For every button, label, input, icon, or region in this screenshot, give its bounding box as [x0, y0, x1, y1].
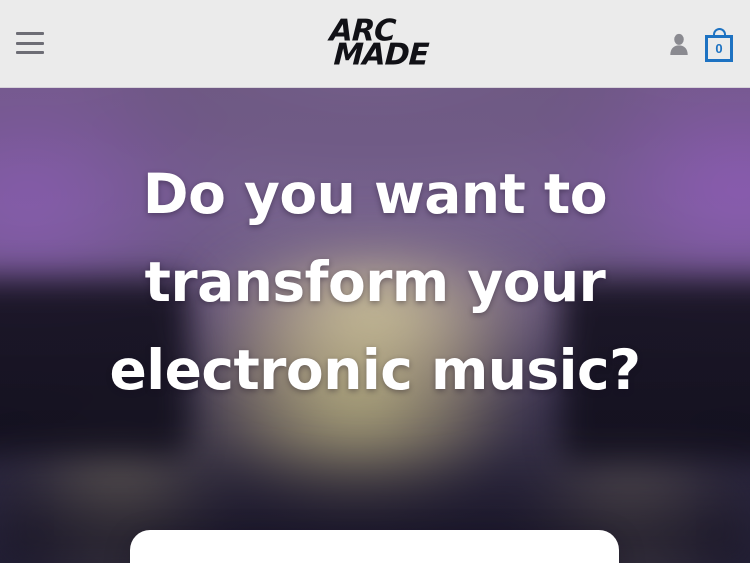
- hamburger-menu-icon[interactable]: [16, 32, 44, 54]
- page-root: ARC MADE 0 Do you want to transf: [0, 0, 750, 563]
- account-person-icon[interactable]: [668, 32, 690, 56]
- header-actions: 0: [668, 25, 736, 63]
- site-logo[interactable]: ARC MADE: [322, 19, 428, 68]
- cart-count: 0: [705, 35, 733, 62]
- logo-line-two: MADE: [333, 44, 429, 69]
- hamburger-line: [16, 32, 44, 35]
- hamburger-line: [16, 42, 44, 45]
- hero-heading-line-2: transform your: [25, 238, 725, 326]
- promo-card-text: Join My Music Production Academy Today B…: [154, 552, 595, 563]
- hero-heading-line-3: electronic music?: [25, 326, 725, 414]
- cart-button[interactable]: 0: [702, 25, 736, 63]
- hero-section: Do you want to transform your electronic…: [0, 88, 750, 563]
- site-header: ARC MADE 0: [0, 0, 750, 88]
- hero-content: Do you want to transform your electronic…: [0, 88, 750, 563]
- hamburger-line: [16, 51, 44, 54]
- hero-heading: Do you want to transform your electronic…: [25, 150, 725, 414]
- promo-card[interactable]: Join My Music Production Academy Today B…: [130, 530, 619, 563]
- hero-heading-line-1: Do you want to: [25, 150, 725, 238]
